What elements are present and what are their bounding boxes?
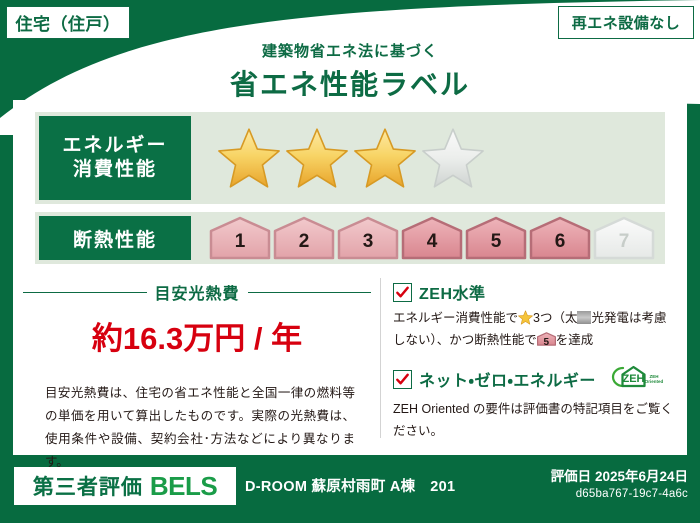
heading-rule-right xyxy=(248,292,372,293)
insulation-chip-6-label: 6 xyxy=(529,231,591,253)
tag-dwelling-type: 住宅（住戸） xyxy=(6,6,130,39)
insulation-performance-row: 断熱性能 1 2 xyxy=(35,212,665,264)
utility-cost-heading-text: 目安光熱費 xyxy=(147,280,248,304)
insulation-chip-4: 4 xyxy=(401,216,463,260)
zeh-standard-text-1: エネルギー消費性能で xyxy=(393,311,518,325)
zeh-net-zero-title: ネット・ゼロ・エネルギー xyxy=(419,367,596,391)
insulation-chip-inline-5-label: 5 xyxy=(537,334,556,352)
zeh-standard-text-2: 3つ（太 xyxy=(533,311,577,325)
insulation-chip-7-label: 7 xyxy=(593,231,655,253)
energy-label-line1: エネルギー xyxy=(62,134,167,158)
insulation-level-scale: 1 2 3 xyxy=(209,216,655,260)
zeh-net-zero-header: ネット・ゼロ・エネルギー ZEH ZEH Oriented xyxy=(393,364,675,395)
content-panel: エネルギー 消費性能 xyxy=(13,100,687,455)
utility-cost-block: 目安光熱費 約16.3万円 / 年 目安光熱費は、住宅の省エネ性能と全国一律の燃… xyxy=(23,280,371,475)
zeh-oriented-logo-icon: ZEH ZEH Oriented xyxy=(606,364,664,395)
tag-renewable-equipment: 再エネ設備なし xyxy=(558,6,694,39)
bels-badge: 第三者評価 BELS xyxy=(14,467,236,505)
energy-performance-label-box: エネルギー 消費性能 xyxy=(39,116,191,200)
star-icon-filled-3 xyxy=(353,127,417,189)
checkbox-checked-icon-zeh-standard[interactable] xyxy=(393,283,412,302)
zeh-standard-title: ZEH水準 xyxy=(419,280,486,304)
insulation-chip-4-label: 4 xyxy=(401,231,463,253)
svg-text:ZEH: ZEH xyxy=(649,374,658,379)
insulation-performance-label-box: 断熱性能 xyxy=(39,216,191,260)
zeh-standard-text-4: を達成 xyxy=(556,333,594,347)
document-id: d65ba767-19c7-4a6c xyxy=(551,488,688,500)
insulation-chip-1-label: 1 xyxy=(209,231,271,253)
footer-meta: 評価日 2025年6月24日 d65ba767-19c7-4a6c xyxy=(551,465,688,500)
bels-jp-label: 第三者評価 xyxy=(33,471,143,501)
zeh-item-standard: ZEH水準 エネルギー消費性能で3つ（太光発電は考慮しない）、かつ断熱性能で5を… xyxy=(393,280,675,352)
insulation-chip-3-label: 3 xyxy=(337,231,399,253)
checkbox-checked-icon-zeh-net-zero[interactable] xyxy=(393,370,412,389)
insulation-chip-5: 5 xyxy=(465,216,527,260)
energy-performance-row: エネルギー 消費性能 xyxy=(35,112,665,204)
bels-en-label: BELS xyxy=(150,471,217,502)
zeh-block: ZEH水準 エネルギー消費性能で3つ（太光発電は考慮しない）、かつ断熱性能で5を… xyxy=(393,280,675,455)
insulation-chip-inline-5: 5 xyxy=(537,331,556,347)
utility-cost-heading: 目安光熱費 xyxy=(23,280,371,304)
evaluation-date: 評価日 2025年6月24日 xyxy=(551,465,688,485)
zeh-item-net-zero: ネット・ゼロ・エネルギー ZEH ZEH Oriented ZEH Orient… xyxy=(393,364,675,443)
energy-performance-label: 住宅（住戸） 再エネ設備なし 建築物省エネ法に基づく 省エネ性能ラベル エネルギ… xyxy=(0,0,700,523)
building-name: D-ROOM 蘇原村雨町 A棟 201 xyxy=(245,475,455,496)
section-divider xyxy=(380,278,381,438)
star-icon-empty-4 xyxy=(421,127,485,189)
insulation-chip-7: 7 xyxy=(593,216,655,260)
energy-star-rating xyxy=(217,127,485,189)
heading-rule-left xyxy=(23,292,147,293)
masked-character-icon xyxy=(577,311,591,324)
star-icon-inline xyxy=(518,310,533,325)
footer: 第三者評価 BELS D-ROOM 蘇原村雨町 A棟 201 評価日 2025年… xyxy=(0,457,700,523)
star-icon-filled-2 xyxy=(285,127,349,189)
utility-cost-value: 約16.3万円 / 年 xyxy=(23,313,371,358)
zeh-standard-header: ZEH水準 xyxy=(393,280,675,304)
zeh-net-zero-body: ZEH Oriented の要件は評価書の特記項目をご覧ください。 xyxy=(393,399,675,443)
insulation-chip-2: 2 xyxy=(273,216,335,260)
insulation-chip-1: 1 xyxy=(209,216,271,260)
svg-text:ZEH: ZEH xyxy=(622,373,644,385)
zeh-standard-body: エネルギー消費性能で3つ（太光発電は考慮しない）、かつ断熱性能で5を達成 xyxy=(393,308,675,352)
insulation-chip-5-label: 5 xyxy=(465,231,527,253)
insulation-chip-3: 3 xyxy=(337,216,399,260)
energy-label-line2: 消費性能 xyxy=(73,158,157,182)
insulation-chip-2-label: 2 xyxy=(273,231,335,253)
svg-text:Oriented: Oriented xyxy=(645,379,664,384)
insulation-chip-6: 6 xyxy=(529,216,591,260)
star-icon-filled-1 xyxy=(217,127,281,189)
